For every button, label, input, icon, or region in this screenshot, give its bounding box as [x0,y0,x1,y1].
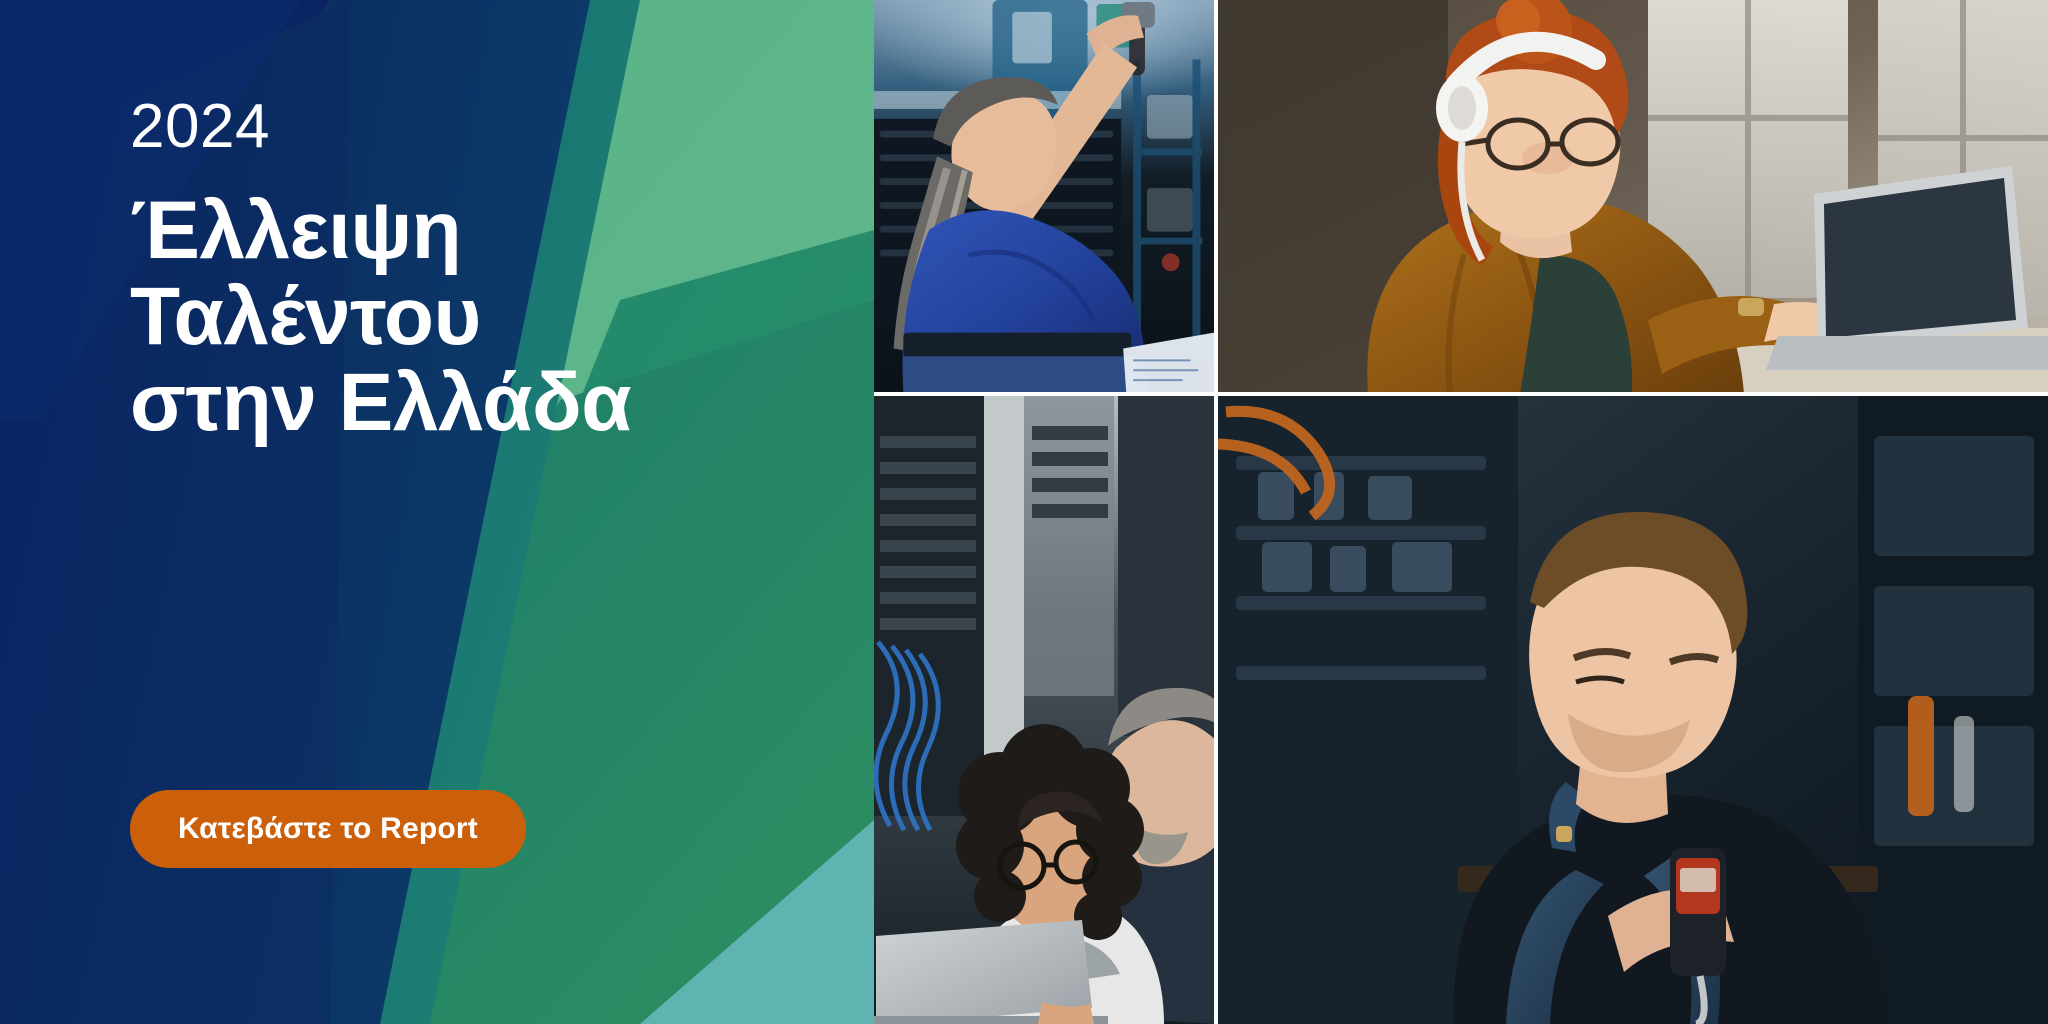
page-title: Έλλειψη Ταλέντου στην Ελλάδα [130,188,850,446]
page-title-year: 2024 [130,96,850,158]
cta-container: Κατεβάστε το Report [130,790,526,868]
hero-graphic-panel: 2024 Έλλειψη Ταλέντου στην Ελλάδα Κατεβά… [0,0,874,1024]
marketing-banner: 2024 Έλλειψη Ταλέντου στην Ελλάδα Κατεβά… [0,0,2048,1024]
photo-woman-headphones-laptop-art [1218,0,2048,392]
download-report-button[interactable]: Κατεβάστε το Report [130,790,526,868]
photo-female-technician-workshop-art [874,0,1214,392]
photo-female-technician-workshop: Female technician in blue workwear reach… [874,0,1218,396]
photo-collage-grid: Female technician in blue workwear reach… [874,0,2048,1024]
photo-woman-headphones-laptop: Red-haired woman wearing white headphone… [1218,0,2048,396]
hero-copy: 2024 Έλλειψη Ταλέντου στην Ελλάδα [130,96,850,446]
photo-server-room-colleagues-art [874,396,1214,1024]
photo-man-overalls-device-art [1218,396,2048,1024]
photo-server-room-colleagues: Two IT colleagues talking in a server ro… [874,396,1218,1024]
photo-man-overalls-device: Young man in work overalls holding a han… [1218,396,2048,1024]
